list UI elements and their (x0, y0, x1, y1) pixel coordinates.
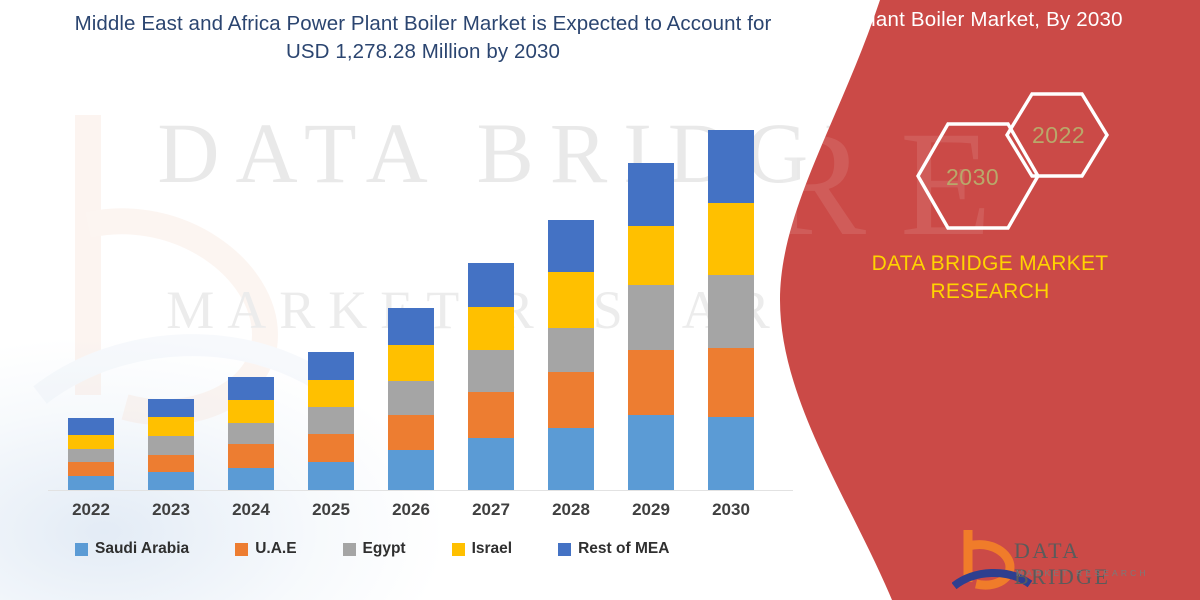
legend-label: Saudi Arabia (95, 540, 189, 558)
segment-u-a-e-2029[interactable] (628, 350, 674, 415)
segment-egypt-2030[interactable] (708, 275, 754, 348)
chart-legend: Saudi ArabiaU.A.EEgyptIsraelRest of MEA (75, 540, 775, 558)
segment-egypt-2022[interactable] (68, 449, 114, 462)
tick-label-2024: 2024 (206, 500, 296, 520)
brand-line-2: RESEARCH (780, 278, 1200, 306)
segment-u-a-e-2030[interactable] (708, 348, 754, 417)
bar-2024[interactable] (228, 377, 274, 490)
legend-item-israel[interactable]: Israel (452, 540, 513, 558)
tick-label-2029: 2029 (606, 500, 696, 520)
segment-rest-of-mea-2024[interactable] (228, 377, 274, 400)
hexagon-outlines-icon (876, 82, 1136, 232)
segment-egypt-2024[interactable] (228, 423, 274, 444)
brand-line-1: DATA BRIDGE MARKET (780, 250, 1200, 278)
segment-israel-2027[interactable] (468, 307, 514, 350)
legend-swatch-icon (558, 543, 571, 556)
segment-saudi-arabia-2027[interactable] (468, 438, 514, 490)
legend-swatch-icon (452, 543, 465, 556)
segment-u-a-e-2028[interactable] (548, 372, 594, 428)
infographic-canvas: DATA BRIDGE MARKET RESEARCH Middle East … (0, 0, 1200, 600)
segment-u-a-e-2025[interactable] (308, 434, 354, 462)
legend-label: U.A.E (255, 540, 296, 558)
bar-2026[interactable] (388, 308, 434, 490)
segment-rest-of-mea-2023[interactable] (148, 399, 194, 417)
tick-label-2023: 2023 (126, 500, 216, 520)
hexagon-group: 2022 2030 (876, 82, 1136, 232)
bar-2023[interactable] (148, 399, 194, 490)
segment-u-a-e-2026[interactable] (388, 415, 434, 450)
branding-panel: RE Plant Boiler Market, By 2030 2022 203… (780, 0, 1200, 600)
hexagon-2030-label: 2030 (946, 164, 999, 191)
segment-u-a-e-2022[interactable] (68, 462, 114, 476)
bar-2028[interactable] (548, 220, 594, 490)
segment-rest-of-mea-2026[interactable] (388, 308, 434, 345)
legend-item-u-a-e[interactable]: U.A.E (235, 540, 296, 558)
panel-title: Plant Boiler Market, By 2030 (780, 8, 1200, 32)
segment-saudi-arabia-2025[interactable] (308, 462, 354, 490)
segment-egypt-2025[interactable] (308, 407, 354, 434)
segment-israel-2026[interactable] (388, 345, 434, 381)
bar-2030[interactable] (708, 130, 754, 490)
segment-saudi-arabia-2029[interactable] (628, 415, 674, 490)
legend-swatch-icon (343, 543, 356, 556)
segment-rest-of-mea-2028[interactable] (548, 220, 594, 272)
bar-2027[interactable] (468, 263, 514, 490)
segment-egypt-2026[interactable] (388, 381, 434, 415)
segment-u-a-e-2024[interactable] (228, 444, 274, 468)
logo-subtext: MARKET RESEARCH (1016, 568, 1149, 578)
tick-label-2028: 2028 (526, 500, 616, 520)
brand-text: DATA BRIDGE MARKET RESEARCH (780, 250, 1200, 307)
segment-israel-2030[interactable] (708, 203, 754, 275)
legend-label: Rest of MEA (578, 540, 669, 558)
tick-label-2030: 2030 (686, 500, 776, 520)
tick-label-2025: 2025 (286, 500, 376, 520)
legend-swatch-icon (75, 543, 88, 556)
segment-saudi-arabia-2028[interactable] (548, 428, 594, 490)
x-axis-line (48, 490, 793, 491)
logo-text: DATA BRIDGE (1014, 538, 1182, 590)
tick-label-2022: 2022 (46, 500, 136, 520)
legend-item-rest-of-mea[interactable]: Rest of MEA (558, 540, 669, 558)
segment-egypt-2027[interactable] (468, 350, 514, 392)
segment-saudi-arabia-2024[interactable] (228, 468, 274, 490)
segment-israel-2028[interactable] (548, 272, 594, 328)
segment-israel-2024[interactable] (228, 400, 274, 423)
segment-israel-2029[interactable] (628, 226, 674, 285)
legend-item-egypt[interactable]: Egypt (343, 540, 406, 558)
segment-rest-of-mea-2027[interactable] (468, 263, 514, 307)
hexagon-2022-label: 2022 (1032, 122, 1085, 149)
segment-u-a-e-2027[interactable] (468, 392, 514, 438)
segment-egypt-2023[interactable] (148, 436, 194, 455)
legend-item-saudi-arabia[interactable]: Saudi Arabia (75, 540, 189, 558)
segment-saudi-arabia-2023[interactable] (148, 472, 194, 490)
plot-area: 202220232024202520262027202820292030 (0, 0, 900, 600)
segment-israel-2025[interactable] (308, 380, 354, 407)
segment-u-a-e-2023[interactable] (148, 455, 194, 472)
legend-swatch-icon (235, 543, 248, 556)
legend-label: Israel (472, 540, 513, 558)
segment-saudi-arabia-2030[interactable] (708, 417, 754, 490)
segment-rest-of-mea-2030[interactable] (708, 130, 754, 203)
segment-rest-of-mea-2029[interactable] (628, 163, 674, 226)
segment-rest-of-mea-2022[interactable] (68, 418, 114, 435)
legend-label: Egypt (363, 540, 406, 558)
segment-egypt-2028[interactable] (548, 328, 594, 372)
segment-israel-2023[interactable] (148, 417, 194, 436)
segment-saudi-arabia-2022[interactable] (68, 476, 114, 490)
tick-label-2027: 2027 (446, 500, 536, 520)
bar-2029[interactable] (628, 163, 674, 490)
chart-panel: DATA BRIDGE MARKET RESEARCH Middle East … (0, 0, 900, 600)
dbmr-logo: DATA BRIDGE MARKET RESEARCH (952, 524, 1182, 598)
bar-2022[interactable] (68, 418, 114, 490)
segment-israel-2022[interactable] (68, 435, 114, 449)
segment-rest-of-mea-2025[interactable] (308, 352, 354, 380)
segment-saudi-arabia-2026[interactable] (388, 450, 434, 490)
bar-2025[interactable] (308, 352, 354, 490)
tick-label-2026: 2026 (366, 500, 456, 520)
segment-egypt-2029[interactable] (628, 285, 674, 350)
